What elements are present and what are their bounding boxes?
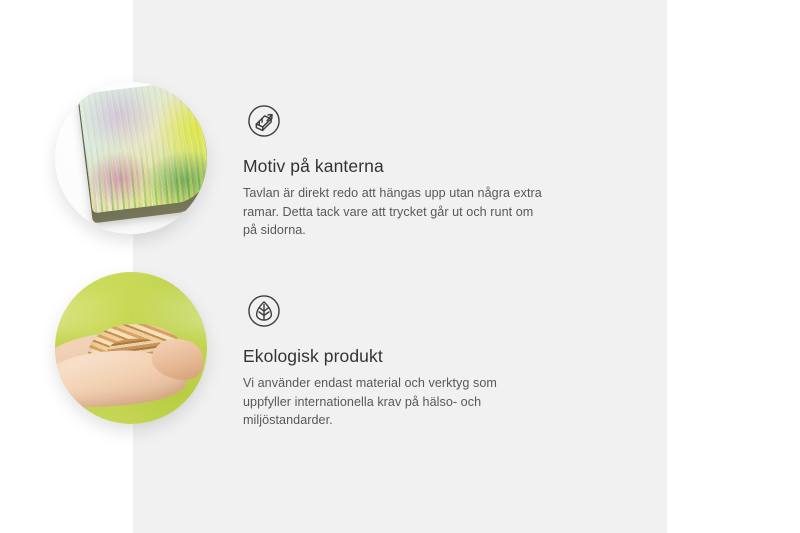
content-panel	[133, 0, 667, 533]
feature-text-eco: Ekologisk produkt Vi använder endast mat…	[243, 272, 543, 430]
feature-row-eco: Ekologisk produkt Vi använder endast mat…	[55, 272, 543, 430]
feature-row-edges: Motiv på kanterna Tavlan är direkt redo …	[55, 82, 543, 240]
feature-body-eco: Vi använder endast material och verktyg …	[243, 374, 543, 430]
feature-title-eco: Ekologisk produkt	[243, 346, 543, 367]
feature-title-edges: Motiv på kanterna	[243, 156, 543, 177]
hands-wood-chips-photo	[55, 272, 207, 424]
canvas-corner-photo	[55, 82, 207, 234]
canvas-printed-face	[78, 82, 207, 213]
leaf-icon	[243, 290, 285, 332]
wrapped-canvas-edge-icon	[243, 100, 285, 142]
product-feature-banner: Motiv på kanterna Tavlan är direkt redo …	[0, 0, 800, 533]
feature-text-edges: Motiv på kanterna Tavlan är direkt redo …	[243, 82, 543, 240]
feature-body-edges: Tavlan är direkt redo att hängas upp uta…	[243, 184, 543, 240]
